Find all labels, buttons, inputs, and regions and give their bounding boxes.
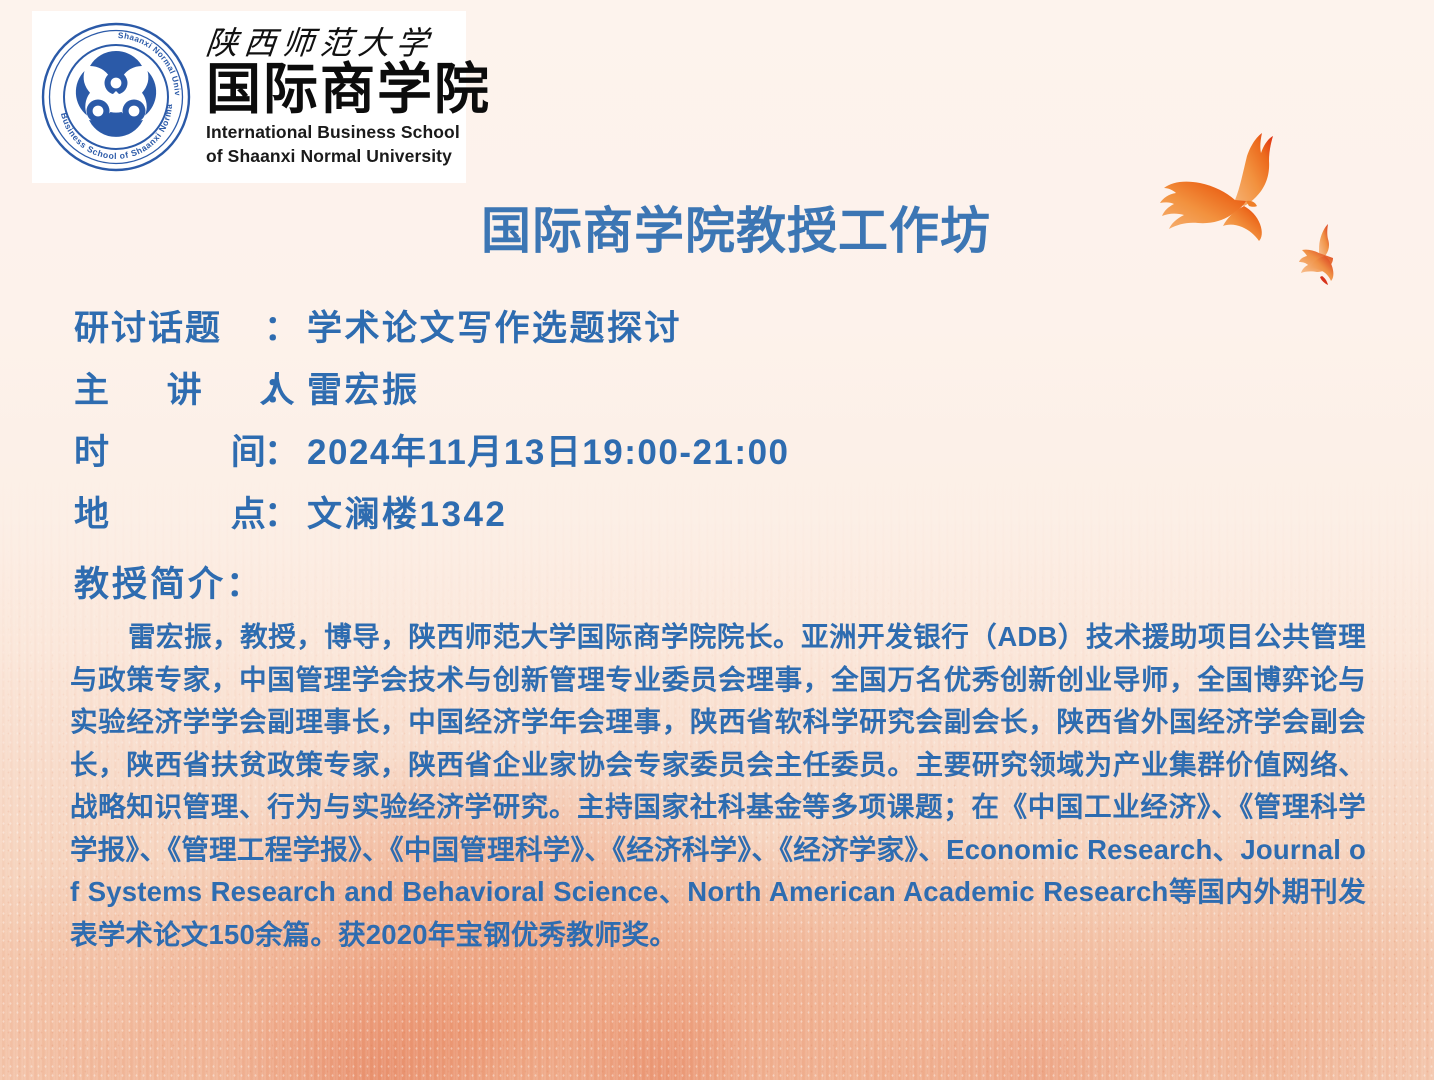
- info-row-topic: 研讨话题 ： 学术论文写作选题探讨: [74, 298, 1374, 360]
- university-seal-icon: Shaanxi Normal University International …: [40, 21, 192, 173]
- info-row-speaker: 主 讲 人 ： 雷宏振: [74, 360, 1374, 422]
- institution-logo: Shaanxi Normal University International …: [32, 11, 466, 183]
- info-value-time: 2024年11月13日19:00-21:00: [307, 422, 789, 484]
- logo-school-name: 国际商学院: [206, 61, 491, 118]
- info-colon-topic: ：: [264, 298, 299, 360]
- info-value-speaker: 雷宏振: [307, 360, 420, 422]
- bio-heading: 教授简介：: [74, 556, 264, 607]
- info-row-time: 时 间 ： 2024年11月13日19:00-21:00: [74, 422, 1374, 484]
- info-label-time: 时 间: [74, 422, 264, 484]
- info-colon-location: ：: [264, 484, 299, 546]
- info-label-speaker: 主 讲 人: [74, 360, 264, 422]
- page-title: 国际商学院教授工作坊: [0, 191, 1434, 263]
- info-row-location: 地 点 ： 文澜楼1342: [74, 484, 1374, 546]
- poster-root: Shaanxi Normal University International …: [0, 0, 1434, 1080]
- logo-wordmark: 陕西师范大学 国际商学院 International Business Scho…: [206, 27, 491, 167]
- logo-university-name: 陕西师范大学: [204, 27, 493, 61]
- logo-english-line-1: International Business School: [206, 122, 491, 143]
- info-value-location: 文澜楼1342: [307, 484, 507, 546]
- bio-body: 雷宏振，教授，博导，陕西师范大学国际商学院院长。亚洲开发银行（ADB）技术援助项…: [70, 616, 1366, 956]
- info-value-topic: 学术论文写作选题探讨: [307, 298, 682, 360]
- info-colon-time: ：: [264, 422, 299, 484]
- info-colon-speaker: ：: [264, 360, 299, 422]
- info-label-topic: 研讨话题: [74, 298, 264, 360]
- logo-english-line-2: of Shaanxi Normal University: [206, 146, 491, 167]
- info-label-location: 地 点: [74, 484, 264, 546]
- event-info-list: 研讨话题 ： 学术论文写作选题探讨 主 讲 人 ： 雷宏振 时 间 ： 2024…: [74, 298, 1374, 546]
